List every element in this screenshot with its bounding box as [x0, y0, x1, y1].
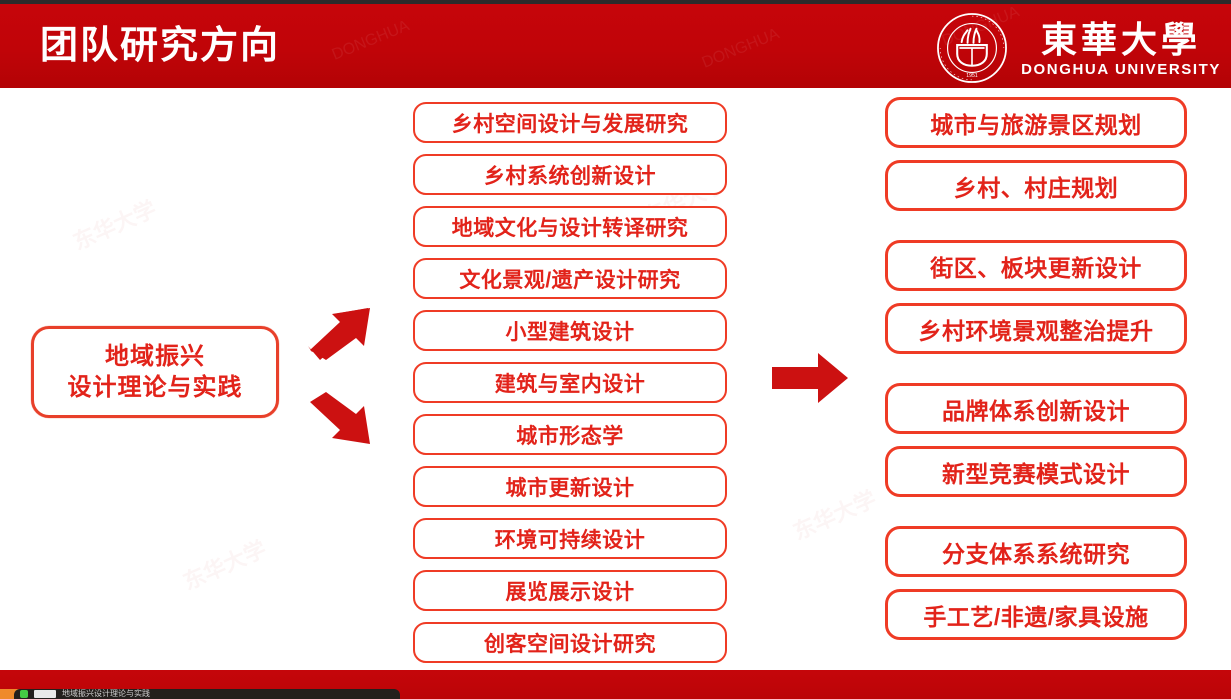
slide-canvas: DONGHUA DONGHUA DONGHUA 团队研究方向	[0, 0, 1231, 699]
header-watermark: DONGHUA	[330, 17, 413, 64]
diagram-area: 东华大学 东华大学 东华大学 东华大学 地域振兴 设计理论与实践 乡村空间设计与…	[0, 88, 1231, 670]
right-node[interactable]: 分支体系系统研究	[885, 526, 1187, 577]
thumbnail-chip-icon	[34, 690, 56, 698]
svg-text:東華大學: 東華大學	[1041, 20, 1201, 60]
logo-english-name: DONGHUA UNIVERSITY	[1021, 61, 1221, 78]
middle-node[interactable]: 展览展示设计	[413, 570, 727, 611]
root-node[interactable]: 地域振兴 设计理论与实践	[31, 326, 279, 418]
bottom-overlay-text: 地域振兴设计理论与实践	[62, 689, 150, 699]
middle-node[interactable]: 创客空间设计研究	[413, 622, 727, 663]
university-seal-icon: 1951	[935, 11, 1009, 85]
middle-node[interactable]: 城市更新设计	[413, 466, 727, 507]
right-node[interactable]: 新型竞赛模式设计	[885, 446, 1187, 497]
arrow-right-icon	[770, 351, 850, 405]
right-node[interactable]: 城市与旅游景区规划	[885, 97, 1187, 148]
root-node-line-1: 地域振兴	[105, 341, 205, 372]
middle-node[interactable]: 小型建筑设计	[413, 310, 727, 351]
middle-column: 乡村空间设计与发展研究 乡村系统创新设计 地域文化与设计转译研究 文化景观/遗产…	[413, 102, 727, 663]
right-node[interactable]: 街区、板块更新设计	[885, 240, 1187, 291]
middle-node[interactable]: 城市形态学	[413, 414, 727, 455]
right-group: 街区、板块更新设计 乡村环境景观整治提升	[885, 240, 1187, 354]
status-dot-icon	[20, 690, 28, 698]
middle-node[interactable]: 建筑与室内设计	[413, 362, 727, 403]
arrow-up-right-icon	[306, 306, 378, 362]
background-watermark: 东华大学	[787, 481, 880, 546]
background-watermark: 东华大学	[177, 531, 270, 596]
header-watermark: DONGHUA	[700, 25, 783, 72]
right-group: 品牌体系创新设计 新型竞赛模式设计	[885, 383, 1187, 497]
middle-node[interactable]: 乡村系统创新设计	[413, 154, 727, 195]
right-node[interactable]: 乡村、村庄规划	[885, 160, 1187, 211]
background-watermark: 东华大学	[67, 191, 160, 256]
right-group: 城市与旅游景区规划 乡村、村庄规划	[885, 97, 1187, 211]
middle-node[interactable]: 地域文化与设计转译研究	[413, 206, 727, 247]
right-node[interactable]: 手工艺/非遗/家具设施	[885, 589, 1187, 640]
middle-node[interactable]: 乡村空间设计与发展研究	[413, 102, 727, 143]
logo-text-block: 東華大學 DONGHUA UNIVERSITY	[1021, 17, 1221, 80]
slide-header: DONGHUA DONGHUA DONGHUA 团队研究方向	[0, 4, 1231, 88]
logo-chinese-name: 東華大學	[1023, 17, 1219, 61]
svg-text:1951: 1951	[966, 73, 978, 79]
arrow-down-right-icon	[306, 390, 378, 446]
root-node-line-2: 设计理论与实践	[68, 372, 243, 403]
right-group: 分支体系系统研究 手工艺/非遗/家具设施	[885, 526, 1187, 640]
university-logo: 1951 東華大學 DONGHUA UNIVERSITY	[935, 9, 1221, 87]
right-column: 城市与旅游景区规划 乡村、村庄规划 街区、板块更新设计 乡村环境景观整治提升 品…	[885, 97, 1187, 640]
right-node[interactable]: 乡村环境景观整治提升	[885, 303, 1187, 354]
page-title: 团队研究方向	[40, 22, 280, 70]
right-node[interactable]: 品牌体系创新设计	[885, 383, 1187, 434]
middle-node[interactable]: 文化景观/遗产设计研究	[413, 258, 727, 299]
middle-node[interactable]: 环境可持续设计	[413, 518, 727, 559]
bottom-tooltip-overlay[interactable]: 地域振兴设计理论与实践	[14, 689, 400, 699]
